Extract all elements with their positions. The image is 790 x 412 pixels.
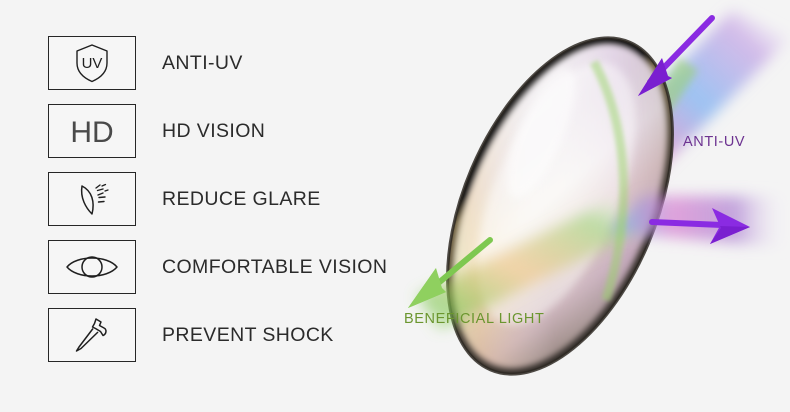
glare-reflection-icon [70, 178, 114, 220]
icon-box-comfortable-vision [48, 240, 136, 294]
feature-label-hd-vision: HD VISION [162, 120, 265, 143]
coated-lens-light-diagram [380, 0, 790, 412]
hd-text-icon: HD [66, 111, 118, 151]
icon-box-anti-uv: UV [48, 36, 136, 90]
feature-label-reduce-glare: REDUCE GLARE [162, 188, 321, 211]
label-beneficial-light: BENEFICIAL LIGHT [404, 311, 544, 327]
svg-text:HD: HD [70, 116, 113, 149]
feature-list: UV ANTI-UV HD HD VISION [48, 36, 388, 362]
uv-shield-icon: UV [72, 42, 112, 84]
icon-box-hd-vision: HD [48, 104, 136, 158]
feature-row-hd-vision: HD HD VISION [48, 104, 388, 158]
feature-row-reduce-glare: REDUCE GLARE [48, 172, 388, 226]
feature-label-comfortable-vision: COMFORTABLE VISION [162, 256, 387, 279]
hammer-icon [70, 314, 114, 356]
feature-label-anti-uv: ANTI-UV [162, 52, 243, 75]
feature-row-comfortable-vision: COMFORTABLE VISION [48, 240, 388, 294]
feature-row-prevent-shock: PREVENT SHOCK [48, 308, 388, 362]
icon-box-prevent-shock [48, 308, 136, 362]
feature-label-prevent-shock: PREVENT SHOCK [162, 324, 334, 347]
label-anti-uv: ANTI-UV [683, 134, 745, 150]
feature-row-anti-uv: UV ANTI-UV [48, 36, 388, 90]
icon-box-reduce-glare [48, 172, 136, 226]
svg-text:UV: UV [82, 55, 103, 72]
eye-icon [63, 250, 121, 284]
